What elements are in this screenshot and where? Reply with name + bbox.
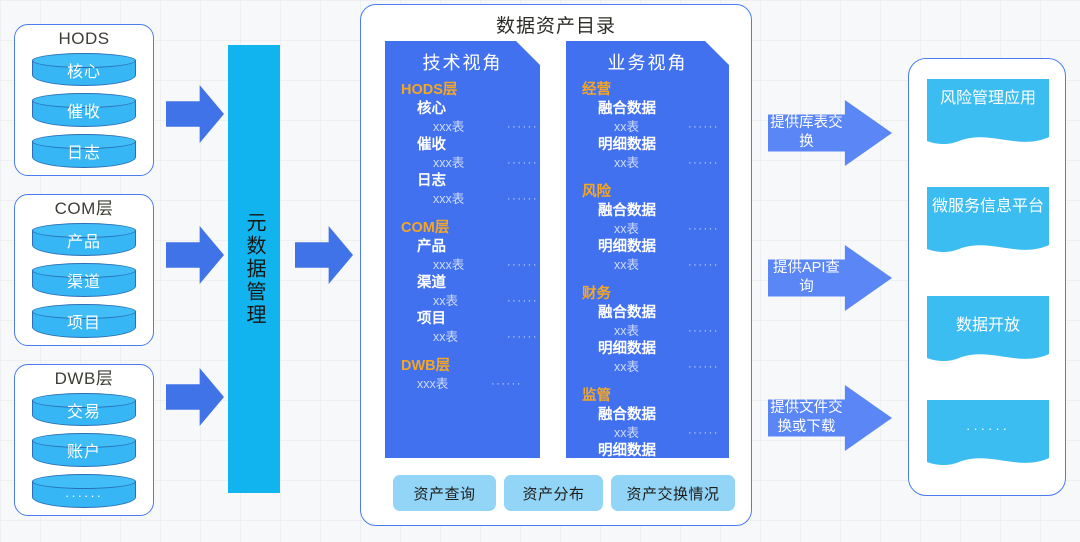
tree-table-label: xxx表 (417, 376, 491, 393)
cylinder-label: ······ (32, 485, 136, 507)
cylinder-label: 核心 (32, 62, 136, 84)
tree-table-label: xxx表 (433, 257, 507, 274)
tree-table-more: ······ (507, 119, 538, 136)
applications-group: 风险管理应用 微服务信息平台 数据开放 ······ (908, 58, 1066, 496)
tree-category[interactable]: 财务 (582, 285, 729, 304)
source-group-dwb: DWB层 交易 账户 ······ (14, 364, 154, 516)
tree-table-label: xx表 (614, 257, 688, 274)
delivery-arrow-label: 提供API查询 (768, 259, 847, 297)
delivery-arrow-label: 提供文件交换或下载 (768, 399, 847, 437)
tree-subcategory[interactable]: 明细数据 (582, 340, 729, 359)
tree-table-more: ······ (688, 359, 719, 376)
tree-category[interactable]: HODS层 (401, 81, 540, 100)
tree-category[interactable]: COM层 (401, 219, 540, 238)
tree-table-row[interactable]: xx表 ······ (582, 257, 729, 274)
spacer (582, 274, 729, 285)
app-card-placeholder-label: ······ (927, 421, 1049, 436)
asset-exchange-status-button[interactable]: 资产交换情况 (611, 475, 735, 511)
catalog-title: 数据资产目录 (361, 11, 751, 38)
tree-subcategory[interactable]: 明细数据 (582, 442, 729, 458)
arrow-right-icon-source-dwb (166, 368, 224, 426)
tree-subcategory[interactable]: 融合数据 (582, 202, 729, 221)
tree-subcategory[interactable]: 明细数据 (582, 136, 729, 155)
cylinder-label: 账户 (32, 442, 136, 464)
source-group-title: DWB层 (55, 370, 114, 389)
cylinder-item[interactable]: 催收 (32, 93, 136, 127)
tree-table-label: xx表 (614, 119, 688, 136)
tree-table-row[interactable]: xx表 ······ (401, 293, 540, 310)
tree-table-more: ······ (507, 293, 538, 310)
spacer (401, 346, 540, 357)
tree-table-row[interactable]: xx表 ······ (582, 119, 729, 136)
tree-table-label: xx表 (614, 155, 688, 172)
tree-table-label: xx表 (614, 323, 688, 340)
cylinder-item[interactable]: 渠道 (32, 263, 136, 297)
source-group-title: COM层 (55, 200, 114, 219)
tree-table-row[interactable]: xx表 ······ (401, 329, 540, 346)
tree-table-row[interactable]: xxx表 ······ (401, 119, 540, 136)
arrow-right-icon-source-com (166, 226, 224, 284)
source-group-title: HODS (58, 30, 109, 49)
tree-table-row[interactable]: xx表 ······ (582, 359, 729, 376)
app-card-microservice-platform-label: 微服务信息平台 (927, 196, 1049, 218)
tree-table-more: ······ (507, 329, 538, 346)
cylinder-item[interactable]: 核心 (32, 53, 136, 87)
tree-table-more: ······ (688, 323, 719, 340)
data-asset-catalog-panel: 数据资产目录 技术视角 HODS层 核心 xxx表 ······ 催收 xxx表… (360, 4, 752, 526)
spacer (582, 376, 729, 387)
tree-subcategory[interactable]: 项目 (401, 310, 540, 329)
tree-table-more: ······ (507, 257, 538, 274)
asset-distribution-label: 资产分布 (522, 483, 584, 504)
app-card-placeholder[interactable] (927, 400, 1049, 472)
cylinder-label: 日志 (32, 143, 136, 165)
tree-subcategory[interactable]: 融合数据 (582, 304, 729, 323)
diagram-canvas: HODS 核心 催收 日志 COM层 产品 渠道 (0, 0, 1080, 542)
cylinder-item[interactable]: 交易 (32, 393, 136, 427)
cylinder-label: 渠道 (32, 272, 136, 294)
tree-table-label: xx表 (614, 425, 688, 442)
cylinder-label: 交易 (32, 402, 136, 424)
asset-distribution-button[interactable]: 资产分布 (504, 475, 603, 511)
spacer (401, 208, 540, 219)
arrow-right-icon-metadata-to-catalog (295, 226, 353, 284)
tree-subcategory[interactable]: 融合数据 (582, 100, 729, 119)
tree-category[interactable]: 监管 (582, 387, 729, 406)
tree-table-row[interactable]: xxx表 ······ (401, 155, 540, 172)
technical-view-tree: HODS层 核心 xxx表 ······ 催收 xxx表 ······ 日志 x… (385, 75, 540, 393)
tree-subcategory[interactable]: 融合数据 (582, 406, 729, 425)
cylinder-item[interactable]: 日志 (32, 134, 136, 168)
asset-query-label: 资产查询 (413, 483, 475, 504)
tree-table-more: ······ (688, 119, 719, 136)
metadata-management-label: 元数据管理 (244, 212, 264, 327)
tree-table-more: ······ (688, 257, 719, 274)
tree-table-row[interactable]: xxx表 ······ (401, 257, 540, 274)
technical-view-panel[interactable]: 技术视角 HODS层 核心 xxx表 ······ 催收 xxx表 ······… (385, 41, 540, 458)
app-card-risk-management-label: 风险管理应用 (927, 88, 1049, 110)
tree-category[interactable]: 经营 (582, 81, 729, 100)
cylinder-item[interactable]: ······ (32, 474, 136, 508)
source-group-hods: HODS 核心 催收 日志 (14, 24, 154, 176)
arrow-right-icon-source-hods (166, 85, 224, 143)
tree-subcategory[interactable]: 渠道 (401, 274, 540, 293)
tree-table-label: xxx表 (433, 119, 507, 136)
tree-table-row[interactable]: xxx表 ······ (401, 376, 540, 393)
cylinder-item[interactable]: 项目 (32, 304, 136, 338)
asset-exchange-status-label: 资产交换情况 (626, 483, 719, 504)
tree-table-row[interactable]: xx表 ······ (582, 323, 729, 340)
delivery-arrow-label: 提供库表交换 (768, 114, 847, 152)
cylinder-label: 项目 (32, 313, 136, 335)
tree-category[interactable]: DWB层 (401, 357, 540, 376)
tree-table-row[interactable]: xx表 ······ (582, 425, 729, 442)
tree-table-label: xx表 (614, 221, 688, 238)
tree-table-row[interactable]: xx表 ······ (582, 221, 729, 238)
tree-table-more: ······ (507, 155, 538, 172)
tree-subcategory[interactable]: 催收 (401, 136, 540, 155)
tree-table-label: xx表 (433, 329, 507, 346)
delivery-arrow-db-exchange: 提供库表交换 (768, 100, 892, 166)
source-group-com: COM层 产品 渠道 项目 (14, 194, 154, 346)
tree-table-label: xx表 (433, 293, 507, 310)
tree-table-label: xx表 (614, 359, 688, 376)
tree-table-more: ······ (688, 221, 719, 238)
tree-subcategory[interactable]: 日志 (401, 172, 540, 191)
tree-table-label: xxx表 (433, 191, 507, 208)
cylinder-label: 催收 (32, 102, 136, 124)
tree-table-row[interactable]: xx表 ······ (582, 155, 729, 172)
business-view-title: 业务视角 (566, 49, 729, 75)
tree-subcategory[interactable]: 明细数据 (582, 238, 729, 257)
tree-table-more: ······ (688, 155, 719, 172)
cylinder-label: 产品 (32, 232, 136, 254)
tree-table-more: ······ (688, 425, 719, 442)
technical-view-title: 技术视角 (385, 49, 540, 75)
delivery-arrow-api-query: 提供API查询 (768, 245, 892, 311)
delivery-arrow-file-exchange: 提供文件交换或下载 (768, 385, 892, 451)
business-view-tree: 经营 融合数据 xx表 ······ 明细数据 xx表 ······ 风险 融合… (566, 75, 729, 458)
business-view-panel[interactable]: 业务视角 经营 融合数据 xx表 ······ 明细数据 xx表 ······ … (566, 41, 729, 458)
tree-subcategory[interactable]: 核心 (401, 100, 540, 119)
app-card-data-opening-label: 数据开放 (927, 315, 1049, 337)
metadata-management-bar[interactable]: 元数据管理 (228, 45, 280, 493)
spacer (582, 172, 729, 183)
tree-table-row[interactable]: xxx表 ······ (401, 191, 540, 208)
cylinder-item[interactable]: 产品 (32, 223, 136, 257)
asset-query-button[interactable]: 资产查询 (393, 475, 496, 511)
tree-table-more: ······ (491, 376, 522, 393)
tree-table-more: ······ (507, 191, 538, 208)
tree-subcategory[interactable]: 产品 (401, 238, 540, 257)
tree-table-label: xxx表 (433, 155, 507, 172)
cylinder-item[interactable]: 账户 (32, 433, 136, 467)
tree-category[interactable]: 风险 (582, 183, 729, 202)
